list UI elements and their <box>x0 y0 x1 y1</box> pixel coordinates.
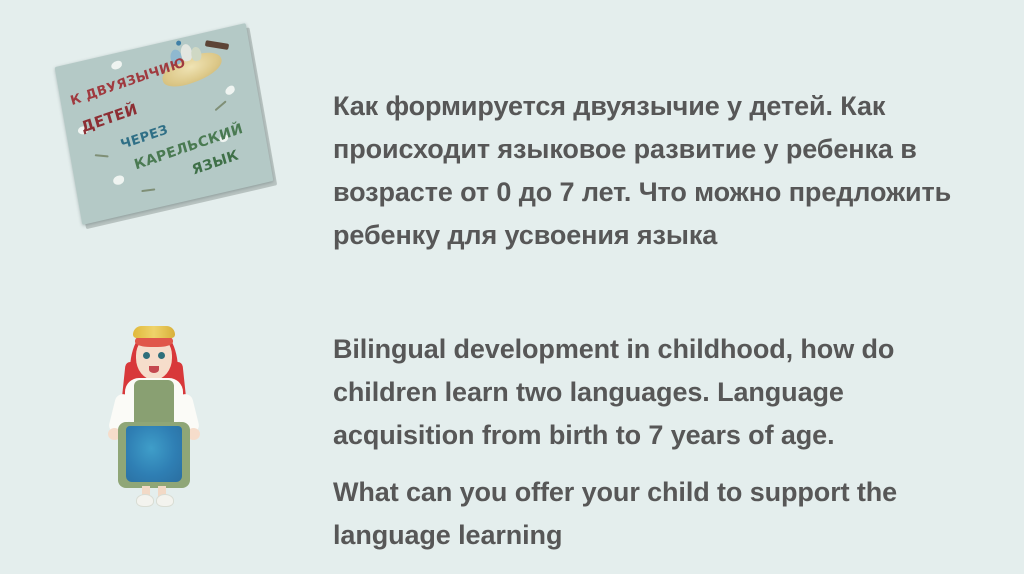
flower-decor-icon <box>224 84 236 96</box>
girl-illustration <box>106 322 202 508</box>
slide-canvas: К ДВУЯЗЫЧИЮ ДЕТЕЙ ЧЕРЕЗ КАРЕЛЬСКИЙ ЯЗЫК <box>0 0 1024 574</box>
eye-left-icon <box>143 352 150 359</box>
flower-decor-icon <box>113 175 124 185</box>
sprig-decor-icon <box>141 188 155 192</box>
russian-paragraph: Как формируется двуязычие у детей. Как п… <box>333 85 973 257</box>
book-object: К ДВУЯЗЫЧИЮ ДЕТЕЙ ЧЕРЕЗ КАРЕЛЬСКИЙ ЯЗЫК <box>55 23 274 225</box>
skirt-inner-icon <box>126 426 182 482</box>
english-paragraph-2: What can you offer your child to support… <box>333 471 973 557</box>
book-front-cover: К ДВУЯЗЫЧИЮ ДЕТЕЙ ЧЕРЕЗ КАРЕЛЬСКИЙ ЯЗЫК <box>55 23 274 225</box>
nest-figure-head-icon <box>176 40 182 46</box>
headband-icon <box>133 326 175 338</box>
shoe-right-icon <box>156 494 174 507</box>
mouth-icon <box>149 366 159 373</box>
oar-icon <box>205 40 229 50</box>
sprig-decor-icon <box>95 154 109 157</box>
book-title-line-2: ДЕТЕЙ <box>79 100 140 136</box>
english-paragraph-1: Bilingual development in childhood, how … <box>333 328 973 457</box>
shoe-left-icon <box>136 494 154 507</box>
english-text-block: Bilingual development in childhood, how … <box>333 328 973 557</box>
eye-right-icon <box>158 352 165 359</box>
russian-text-block: Как формируется двуязычие у детей. Как п… <box>333 85 973 257</box>
book-cover-image: К ДВУЯЗЫЧИЮ ДЕТЕЙ ЧЕРЕЗ КАРЕЛЬСКИЙ ЯЗЫК <box>52 38 278 222</box>
flower-decor-icon <box>111 60 123 70</box>
sprig-decor-icon <box>215 100 227 111</box>
